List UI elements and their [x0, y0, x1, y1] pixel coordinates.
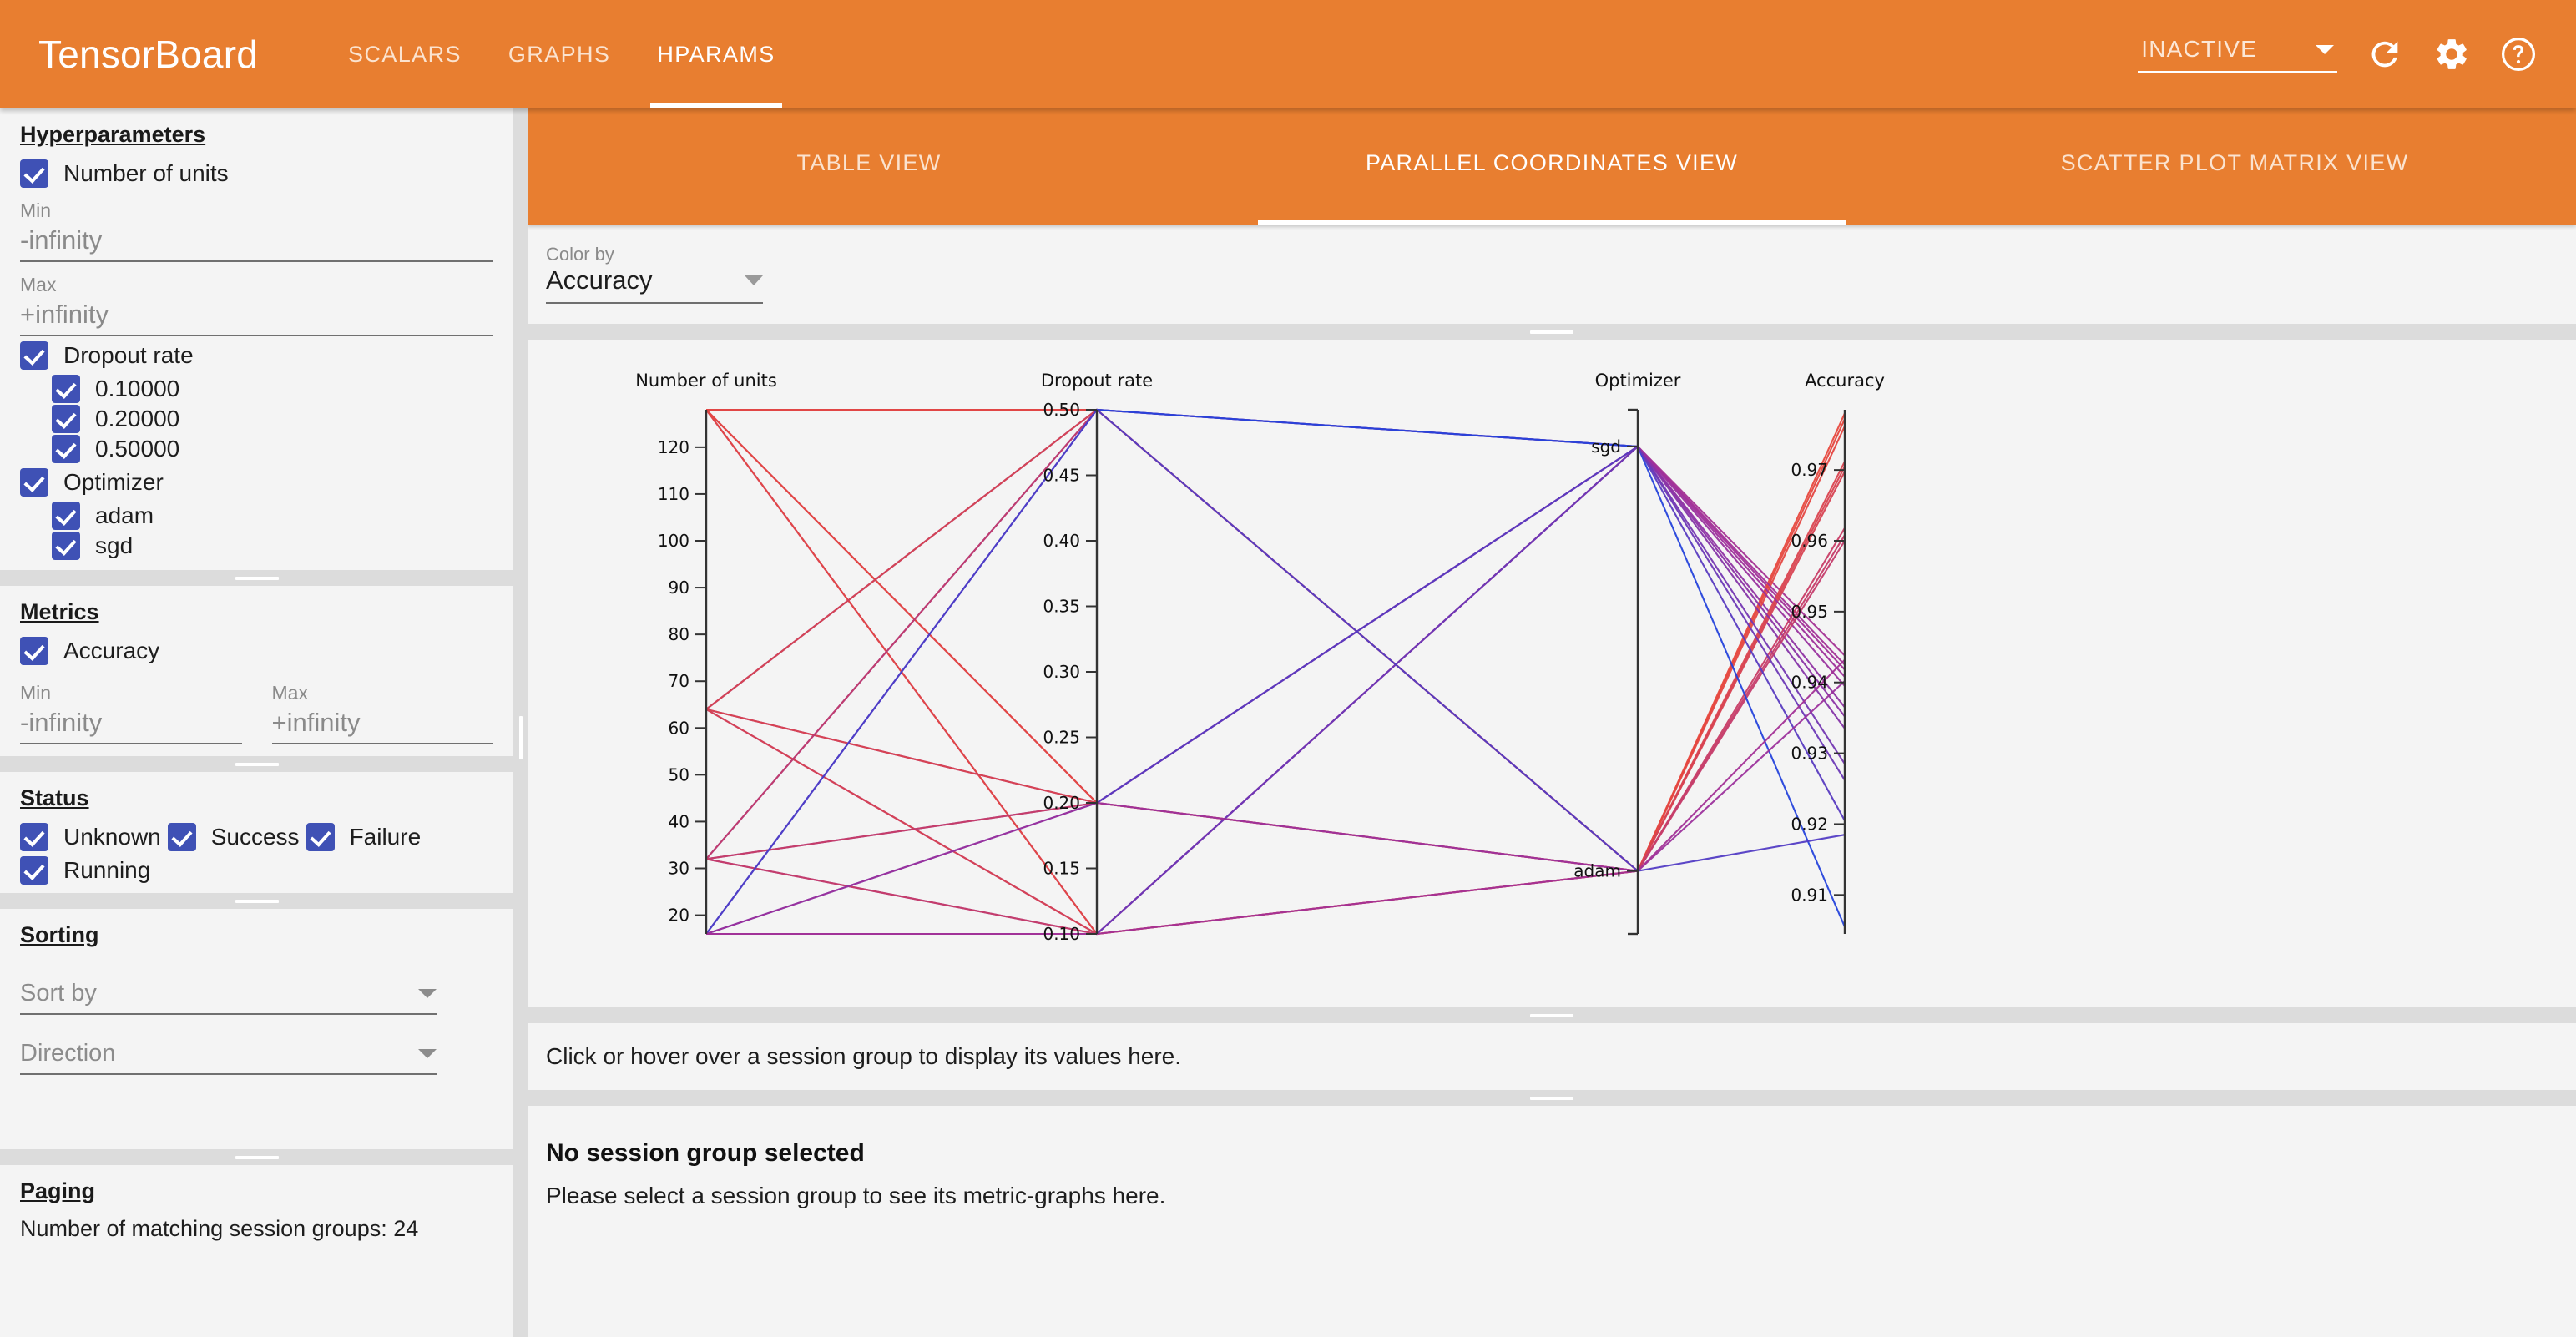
- tab-parallel-coordinates-view[interactable]: PARALLEL COORDINATES VIEW: [1210, 108, 1893, 225]
- optimizer-value-row[interactable]: sgd: [20, 532, 493, 560]
- session-group-line[interactable]: [706, 410, 1845, 729]
- axis-tick-label: 0.10: [1043, 924, 1080, 944]
- panel-divider-status-sorting[interactable]: [0, 893, 513, 909]
- metrics-panel: Metrics Accuracy Min -infinity Max +infi…: [0, 586, 513, 756]
- sorting-title: Sorting: [20, 922, 99, 948]
- dropout-value-row[interactable]: 0.20000: [20, 405, 493, 433]
- color-by-label: Color by: [546, 244, 614, 265]
- axis-tick-label: 0.95: [1791, 602, 1828, 622]
- chevron-down-icon: [418, 1049, 437, 1058]
- accuracy-max-input[interactable]: +infinity: [272, 708, 494, 744]
- hyperparameters-panel: Hyperparameters Number of units Min -inf…: [0, 108, 513, 570]
- app-bar: TensorBoard SCALARS GRAPHS HPARAMS INACT…: [0, 0, 2576, 108]
- session-group-line[interactable]: [706, 447, 1845, 934]
- hyperparameters-title: Hyperparameters: [20, 122, 205, 148]
- checkbox-number-of-units[interactable]: [20, 159, 48, 188]
- axis-tick-label: 20: [669, 906, 689, 926]
- detail-body: Please select a session group to see its…: [546, 1183, 2558, 1209]
- status-label: Failure: [350, 824, 422, 850]
- direction-select[interactable]: Direction: [20, 1040, 437, 1075]
- axis-tick-label: 100: [658, 531, 689, 551]
- axis-tick-label: 0.91: [1791, 885, 1828, 905]
- status-running[interactable]: Running: [20, 856, 150, 885]
- hparam-label: Number of units: [63, 160, 229, 187]
- session-group-line[interactable]: [706, 447, 1845, 859]
- chevron-down-icon: [745, 275, 763, 285]
- checkbox-status-success[interactable]: [168, 823, 196, 851]
- paging-title: Paging: [20, 1178, 95, 1204]
- matching-session-groups: Number of matching session groups: 24: [20, 1216, 493, 1242]
- metrics-title: Metrics: [20, 599, 99, 625]
- axis-tick-label: 0.97: [1791, 460, 1828, 480]
- hparam-label: Optimizer: [63, 469, 164, 496]
- status-label: Success: [211, 824, 300, 850]
- axis-tick-label: 120: [658, 437, 689, 457]
- checkbox-accuracy[interactable]: [20, 637, 48, 665]
- axis-tick-label: 80: [669, 624, 689, 644]
- axis-tick-label: 0.92: [1791, 814, 1828, 834]
- metric-label: Accuracy: [63, 638, 159, 664]
- status-label: Running: [63, 857, 150, 884]
- panel-divider-colorby-chart[interactable]: [528, 324, 2576, 340]
- accuracy-min-input[interactable]: -infinity: [20, 708, 242, 744]
- axis-tick-label: 110: [658, 484, 689, 504]
- chevron-down-icon: [418, 989, 437, 998]
- parallel-coordinates-svg[interactable]: Number of units2030405060708090100110120…: [528, 340, 2576, 1007]
- color-by-value: Accuracy: [546, 265, 652, 295]
- axis-category-label: adam: [1573, 861, 1621, 881]
- axis-tick-label: 60: [669, 718, 689, 738]
- checkbox-dropout-1[interactable]: [52, 405, 80, 433]
- axis-tick-label: 40: [669, 811, 689, 831]
- units-min-label: Min: [20, 199, 493, 222]
- checkbox-dropout-rate[interactable]: [20, 341, 48, 370]
- units-max-field[interactable]: Max +infinity: [20, 274, 493, 336]
- status-unknown[interactable]: Unknown: [20, 823, 161, 851]
- color-by-select[interactable]: Accuracy: [546, 265, 763, 304]
- axis-tick-label: 0.45: [1043, 466, 1080, 486]
- session-group-hover-panel: Click or hover over a session group to d…: [528, 1023, 2576, 1090]
- status-failure[interactable]: Failure: [306, 823, 422, 851]
- metric-accuracy[interactable]: Accuracy: [20, 637, 493, 665]
- panel-divider-hover-detail[interactable]: [528, 1090, 2576, 1106]
- direction-value: Direction: [20, 1040, 115, 1067]
- units-max-label: Max: [20, 274, 493, 296]
- checkbox-optimizer[interactable]: [20, 468, 48, 497]
- panel-divider-chart-hover[interactable]: [528, 1007, 2576, 1023]
- axis-tick-label: 0.25: [1043, 728, 1080, 748]
- app-bar-right: INACTIVE: [2138, 35, 2538, 73]
- optimizer-value-row[interactable]: adam: [20, 502, 493, 530]
- sidebar: Hyperparameters Number of units Min -inf…: [0, 108, 513, 1337]
- session-group-line[interactable]: [706, 447, 1845, 934]
- status-panel: Status Unknown Success Failure Running: [0, 772, 513, 893]
- detail-title: No session group selected: [546, 1139, 2558, 1168]
- hover-hint-text: Click or hover over a session group to d…: [546, 1043, 2558, 1070]
- color-by-bar: Color by Accuracy: [528, 225, 2576, 324]
- dropout-value-label: 0.20000: [95, 406, 179, 432]
- app-brand: TensorBoard: [38, 32, 258, 77]
- session-group-line[interactable]: [706, 410, 1845, 803]
- view-tab-bar: TABLE VIEW PARALLEL COORDINATES VIEW SCA…: [528, 108, 2576, 225]
- checkbox-dropout-0[interactable]: [52, 375, 80, 403]
- dropout-value-label: 0.10000: [95, 376, 179, 402]
- session-group-line[interactable]: [706, 447, 1845, 934]
- sort-by-select[interactable]: Sort by: [20, 980, 437, 1015]
- nav-tab-scalars[interactable]: SCALARS: [325, 0, 485, 108]
- axis-title: Optimizer: [1595, 371, 1681, 391]
- accuracy-max-field[interactable]: Max +infinity: [272, 682, 494, 744]
- checkbox-status-failure[interactable]: [306, 823, 335, 851]
- reload-icon[interactable]: [2366, 35, 2404, 73]
- hparam-optimizer[interactable]: Optimizer: [20, 468, 493, 497]
- axis-tick-label: 0.96: [1791, 531, 1828, 551]
- axis-title: Dropout rate: [1041, 371, 1153, 391]
- nav-tab-hparams[interactable]: HPARAMS: [634, 0, 798, 108]
- parallel-coordinates-chart[interactable]: Number of units2030405060708090100110120…: [528, 340, 2576, 1007]
- axis-tick-label: 0.15: [1043, 859, 1080, 879]
- session-group-detail-panel: No session group selected Please select …: [528, 1106, 2576, 1243]
- chevron-down-icon: [2316, 45, 2334, 54]
- axis-tick-label: 0.20: [1043, 793, 1080, 813]
- run-selector[interactable]: INACTIVE: [2138, 36, 2337, 73]
- checkbox-optimizer-adam[interactable]: [52, 502, 80, 530]
- panel-divider-metrics-status[interactable]: [0, 756, 513, 772]
- axis-tick-label: 50: [669, 764, 689, 785]
- run-selector-value: INACTIVE: [2141, 36, 2257, 63]
- checkbox-optimizer-sgd[interactable]: [52, 532, 80, 560]
- sidebar-resize-handle[interactable]: [513, 108, 528, 1337]
- checkbox-status-unknown[interactable]: [20, 823, 48, 851]
- accuracy-min-field[interactable]: Min -infinity: [20, 682, 242, 744]
- status-success[interactable]: Success: [168, 823, 300, 851]
- optimizer-value-label: sgd: [95, 532, 133, 559]
- axis-tick-label: 0.93: [1791, 744, 1828, 764]
- axis-tick-label: 0.35: [1043, 597, 1080, 617]
- tab-table-view[interactable]: TABLE VIEW: [528, 108, 1210, 225]
- units-min-input[interactable]: -infinity: [20, 225, 493, 262]
- gear-icon[interactable]: [2432, 35, 2471, 73]
- units-min-field[interactable]: Min -infinity: [20, 199, 493, 262]
- axis-tick-label: 30: [669, 859, 689, 879]
- panel-divider-sorting-paging[interactable]: [0, 1149, 513, 1165]
- dropout-value-row[interactable]: 0.50000: [20, 435, 493, 463]
- dropout-value-row[interactable]: 0.10000: [20, 375, 493, 403]
- hparam-number-of-units[interactable]: Number of units: [20, 159, 493, 188]
- axis-tick-label: 70: [669, 671, 689, 691]
- color-by-control[interactable]: Color by Accuracy: [546, 244, 2558, 304]
- accuracy-min-label: Min: [20, 682, 242, 704]
- sort-by-value: Sort by: [20, 980, 97, 1007]
- sorting-panel: Sorting Sort by Direction: [0, 909, 513, 1149]
- axis-tick-label: 90: [669, 578, 689, 598]
- axis-tick-label: 0.30: [1043, 662, 1080, 682]
- session-group-line[interactable]: [706, 535, 1845, 934]
- hparam-dropout-rate[interactable]: Dropout rate: [20, 341, 493, 370]
- dropout-value-label: 0.50000: [95, 436, 179, 462]
- status-label: Unknown: [63, 824, 161, 850]
- nav-tab-graphs[interactable]: GRAPHS: [485, 0, 634, 108]
- axis-tick-label: 0.94: [1791, 673, 1828, 693]
- session-group-line[interactable]: [706, 528, 1845, 871]
- panel-divider-hparams-metrics[interactable]: [0, 570, 513, 586]
- paging-panel: Paging Number of matching session groups…: [0, 1165, 513, 1250]
- main-content: TABLE VIEW PARALLEL COORDINATES VIEW SCA…: [528, 108, 2576, 1337]
- units-max-input[interactable]: +infinity: [20, 300, 493, 336]
- axis-title: Number of units: [635, 371, 777, 391]
- checkbox-dropout-2[interactable]: [52, 435, 80, 463]
- axis-category-label: sgd: [1591, 436, 1621, 457]
- help-icon[interactable]: [2499, 35, 2538, 73]
- session-group-line[interactable]: [706, 660, 1845, 934]
- session-group-line[interactable]: [706, 447, 1845, 934]
- axis-title: Accuracy: [1805, 371, 1885, 391]
- status-title: Status: [20, 785, 89, 811]
- accuracy-max-label: Max: [272, 682, 494, 704]
- axis-tick-label: 0.50: [1043, 400, 1080, 420]
- tab-scatter-plot-matrix-view[interactable]: SCATTER PLOT MATRIX VIEW: [1893, 108, 2576, 225]
- checkbox-status-running[interactable]: [20, 856, 48, 885]
- metrics-range-row: Min -infinity Max +infinity: [20, 670, 493, 748]
- axis-tick-label: 0.40: [1043, 531, 1080, 551]
- hparam-label: Dropout rate: [63, 342, 194, 369]
- optimizer-value-label: adam: [95, 502, 154, 529]
